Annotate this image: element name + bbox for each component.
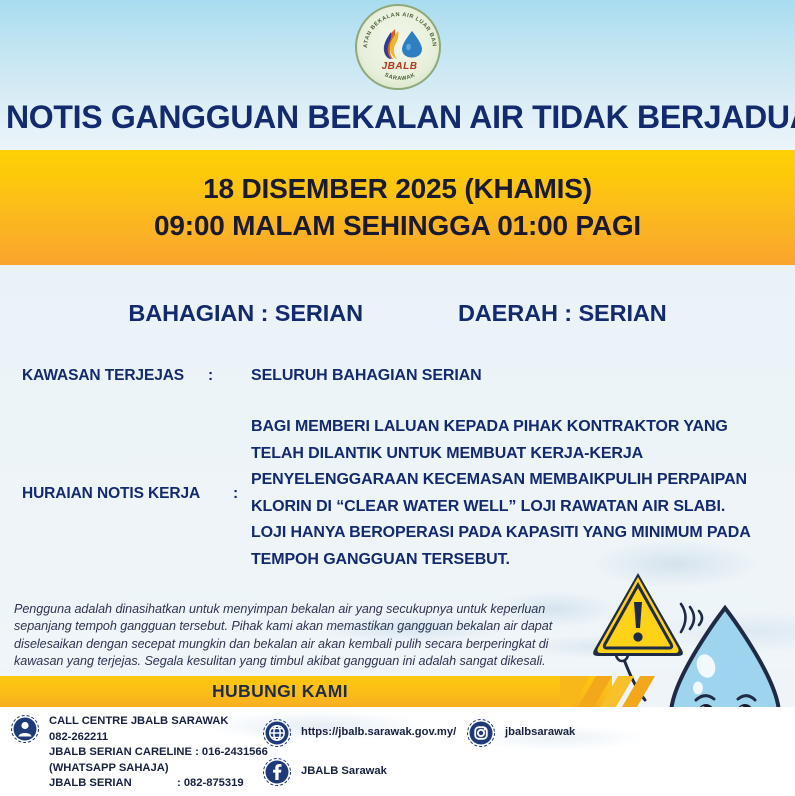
contact-band-title: HUBUNGI KAMI — [0, 681, 560, 702]
call-centre-name: CALL CENTRE JBALB SARAWAK — [49, 714, 268, 730]
logo-acronym: JBALB — [357, 61, 441, 72]
flame-icon — [381, 28, 403, 60]
contact-column-web: https://jbalb.sarawak.gov.my/ JBALB Sara… — [262, 718, 456, 787]
facebook-handle[interactable]: JBALB Sarawak — [301, 757, 387, 777]
water-drop-icon — [401, 30, 423, 58]
serian-label: JBALB SERIAN — [49, 776, 177, 792]
disruption-time: 09:00 MALAM SEHINGGA 01:00 PAGI — [154, 210, 641, 242]
region-row: BAHAGIAN : SERIAN DAERAH : SERIAN — [0, 300, 795, 327]
contact-column-instagram: jbalbsarawak — [466, 718, 575, 748]
water-disruption-notice-poster: JABATAN BEKALAN AIR LUAR BANDAR SARAWAK … — [0, 0, 795, 796]
kawasan-terjejas-value: SELURUH BAHAGIAN SERIAN — [251, 367, 482, 385]
globe-icon — [262, 718, 292, 748]
kawasan-colon: : — [208, 367, 213, 385]
kawasan-terjejas-label: KAWASAN TERJEJAS — [22, 367, 184, 385]
contact-entry-website[interactable]: https://jbalb.sarawak.gov.my/ — [262, 718, 456, 748]
huraian-notis-kerja-label: HURAIAN NOTIS KERJA — [22, 485, 200, 503]
contact-entry-instagram[interactable]: jbalbsarawak — [466, 718, 575, 748]
person-icon — [10, 714, 40, 744]
page-title: NOTIS GANGGUAN BEKALAN AIR TIDAK BERJADU… — [6, 99, 789, 136]
serian-number[interactable]: : 082-875319 — [177, 776, 244, 792]
band-slash-decoration — [560, 676, 655, 707]
contact-column-phone: CALL CENTRE JBALB SARAWAK 082-262211 JBA… — [10, 714, 268, 792]
contact-entry-phone: CALL CENTRE JBALB SARAWAK 082-262211 JBA… — [10, 714, 268, 792]
call-centre-number[interactable]: 082-262211 — [49, 730, 268, 746]
header-band: JABATAN BEKALAN AIR LUAR BANDAR SARAWAK … — [0, 0, 795, 150]
website-url[interactable]: https://jbalb.sarawak.gov.my/ — [301, 718, 456, 738]
daerah-value: DAERAH : SERIAN — [458, 300, 667, 327]
logo-ring-text-bottom: SARAWAK — [383, 72, 416, 82]
logo-jbalb-sarawak: JABATAN BEKALAN AIR LUAR BANDAR SARAWAK … — [355, 4, 441, 90]
phone-details: CALL CENTRE JBALB SARAWAK 082-262211 JBA… — [49, 714, 268, 792]
huraian-notis-kerja-value: BAGI MEMBERI LALUAN KEPADA PIHAK KONTRAK… — [251, 414, 751, 574]
huraian-colon: : — [233, 485, 238, 503]
contact-entry-facebook[interactable]: JBALB Sarawak — [262, 757, 456, 787]
careline[interactable]: JBALB SERIAN CARELINE : 016-2431566 — [49, 745, 268, 761]
logo-circle: JABATAN BEKALAN AIR LUAR BANDAR SARAWAK … — [355, 4, 441, 90]
facebook-icon — [262, 757, 292, 787]
disruption-date: 18 DISEMBER 2025 (KHAMIS) — [203, 173, 592, 205]
advisory-text: Pengguna adalah dinasihatkan untuk menyi… — [14, 601, 579, 671]
careline-note: (WHATSAPP SAHAJA) — [49, 761, 268, 777]
serian-row: JBALB SERIAN : 082-875319 — [49, 776, 268, 792]
instagram-handle[interactable]: jbalbsarawak — [505, 718, 575, 738]
bahagian-value: BAHAGIAN : SERIAN — [128, 300, 363, 327]
date-time-band: 18 DISEMBER 2025 (KHAMIS) 09:00 MALAM SE… — [0, 150, 795, 265]
instagram-icon — [466, 718, 496, 748]
